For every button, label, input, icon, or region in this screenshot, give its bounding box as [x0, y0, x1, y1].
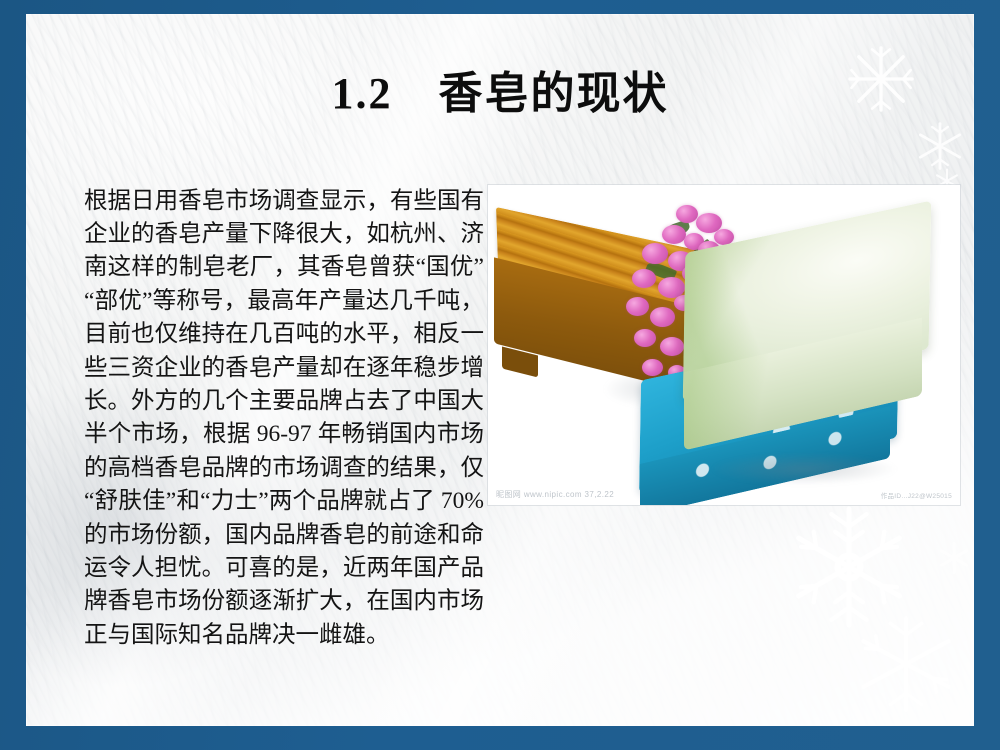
slide-title: 1.2 香皂的现状: [26, 69, 974, 120]
soap-photo: 昵图网 www.nipic.com 37,2.22 作品ID...J22@W25…: [488, 185, 960, 505]
soap-shadow: [674, 447, 934, 491]
photo-watermark-right: 作品ID...J22@W25015: [881, 490, 952, 500]
photo-watermark-left: 昵图网 www.nipic.com 37,2.22: [496, 489, 614, 500]
snowflake-icon: [912, 118, 968, 174]
slide-body-text: 根据日用香皂市场调查显示，有些国有企业的香皂产量下降很大，如杭州、济南这样的制皂…: [84, 185, 484, 653]
snowflake-icon: [934, 538, 974, 578]
snowflake-icon: [854, 612, 958, 716]
snowflake-icon: [786, 504, 912, 630]
soap-photo-scene: 昵图网 www.nipic.com 37,2.22 作品ID...J22@W25…: [488, 185, 960, 505]
presentation-slide: 1.2 香皂的现状 根据日用香皂市场调查显示，有些国有企业的香皂产量下降很大，如…: [0, 0, 1000, 750]
slide-content-panel: 1.2 香皂的现状 根据日用香皂市场调查显示，有些国有企业的香皂产量下降很大，如…: [26, 14, 974, 726]
